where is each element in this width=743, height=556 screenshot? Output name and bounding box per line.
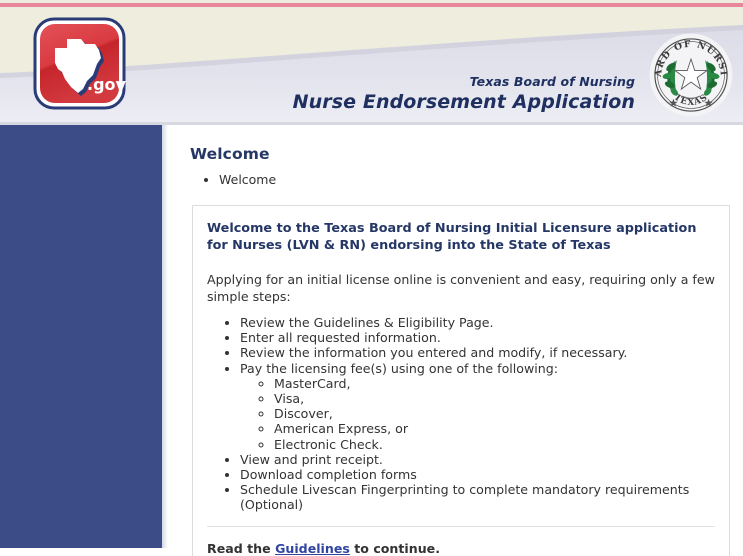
step-item-enter-information: Enter all requested information.: [240, 330, 715, 345]
page-title: Welcome: [190, 145, 270, 163]
welcome-panel: Welcome to the Texas Board of Nursing In…: [192, 205, 730, 556]
payment-method-mastercard: MasterCard,: [274, 376, 715, 391]
panel-heading: Welcome to the Texas Board of Nursing In…: [207, 220, 715, 254]
panel-footer-suffix: to continue.: [350, 541, 440, 556]
application-page: .gov Texas Board of Nursing Nurse Endors…: [0, 0, 743, 556]
breadcrumb-item[interactable]: Welcome: [219, 172, 276, 188]
step-item-pay-fees: Pay the licensing fee(s) using one of th…: [240, 361, 715, 452]
panel-intro-paragraph: Applying for an initial license online i…: [207, 271, 715, 305]
step-item-review-information: Review the information you entered and m…: [240, 345, 715, 360]
panel-footer: Read the Guidelines to continue.: [207, 540, 715, 556]
payment-method-american-express: American Express, or: [274, 421, 715, 436]
panel-divider: [207, 526, 715, 527]
texas-gov-logo-text: .gov: [87, 75, 126, 94]
payment-method-discover: Discover,: [274, 406, 715, 421]
agency-name: Texas Board of Nursing: [293, 76, 635, 89]
payment-method-electronic-check: Electronic Check.: [274, 437, 715, 452]
breadcrumb: Welcome: [190, 172, 276, 188]
steps-list: Review the Guidelines & Eligibility Page…: [207, 315, 715, 513]
step-item-review-guidelines: Review the Guidelines & Eligibility Page…: [240, 315, 715, 330]
main-content: Welcome Welcome Welcome to the Texas Boa…: [168, 125, 743, 556]
guidelines-link[interactable]: Guidelines: [275, 540, 350, 556]
application-title: Nurse Endorsement Application: [293, 93, 635, 112]
payment-methods-list: MasterCard, Visa, Discover, American Exp…: [240, 376, 715, 452]
step-item-download-forms: Download completion forms: [240, 467, 715, 482]
step-item-pay-fees-label: Pay the licensing fee(s) using one of th…: [240, 361, 558, 376]
board-of-nursing-seal: BOARD OF NURSING TEXAS: [647, 31, 735, 119]
panel-footer-prefix: Read the: [207, 541, 275, 556]
step-item-view-print-receipt: View and print receipt.: [240, 452, 715, 467]
left-sidebar: [0, 125, 162, 548]
page-header: .gov Texas Board of Nursing Nurse Endors…: [0, 0, 743, 125]
payment-method-visa: Visa,: [274, 391, 715, 406]
header-titles: Texas Board of Nursing Nurse Endorsement…: [293, 76, 635, 112]
step-item-schedule-livescan: Schedule Livescan Fingerprinting to comp…: [240, 482, 715, 512]
texas-gov-logo[interactable]: .gov: [33, 17, 126, 110]
